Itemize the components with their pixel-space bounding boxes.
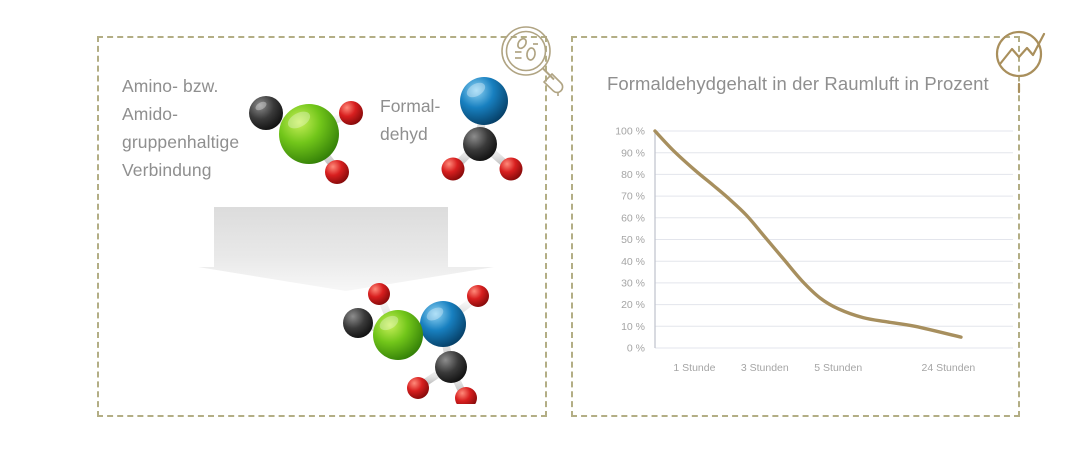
chart-y-tick-labels: 100 %90 %80 %70 %60 %50 %40 %30 %20 %10 … (615, 126, 645, 355)
chart-y-tick: 10 % (621, 321, 645, 333)
chart-y-tick: 0 % (627, 343, 645, 355)
chart-x-tick: 3 Stunden (741, 362, 789, 374)
amino-compound-molecule (233, 82, 373, 194)
chart-y-tick: 50 % (621, 234, 645, 246)
chart-x-tick: 5 Stunden (814, 362, 862, 374)
chart-y-tick: 70 % (621, 191, 645, 203)
chart-y-tick: 20 % (621, 299, 645, 311)
chart-x-tick: 1 Stunde (673, 362, 715, 374)
screenshot-stage: Amino- bzw. Amido- gruppenhaltige Verbin… (0, 0, 1080, 462)
halbaminal-molecule (330, 276, 500, 404)
chart-series-line (655, 131, 961, 337)
chart-gridlines (655, 131, 1013, 348)
chart-x-tick: 24 Stunden (922, 362, 976, 374)
formaldehyde-molecule (432, 68, 542, 190)
chart-y-tick: 90 % (621, 147, 645, 159)
chart-y-tick: 40 % (621, 256, 645, 268)
line-chart: 100 %90 %80 %70 %60 %50 %40 %30 %20 %10 … (571, 36, 1020, 417)
chart-y-tick: 100 % (615, 126, 645, 138)
chart-y-tick: 60 % (621, 212, 645, 224)
chart-y-tick: 80 % (621, 169, 645, 181)
chart-x-tick-labels: 1 Stunde3 Stunden5 Stunden24 Stunden (673, 362, 975, 374)
chart-y-tick: 30 % (621, 278, 645, 290)
